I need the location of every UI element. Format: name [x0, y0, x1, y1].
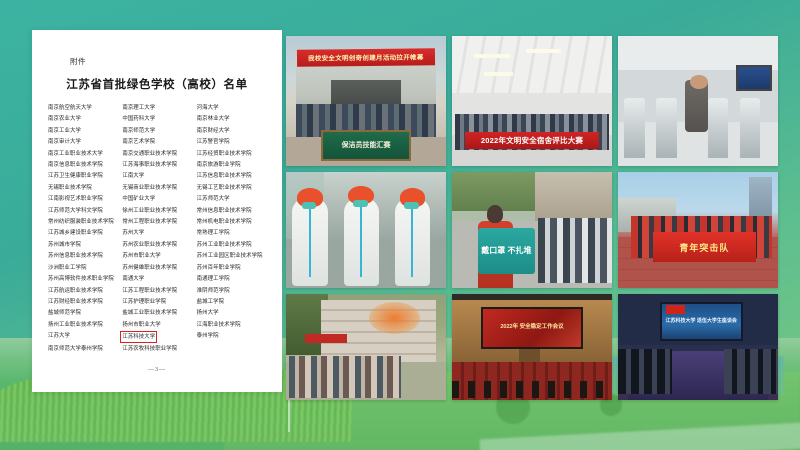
list-item: 江海职业技术学院 [197, 320, 266, 331]
list-item: 苏州高博软件技术职业学院 [48, 274, 117, 285]
ceiling-light [474, 54, 509, 58]
photo-fire-evacuation-drill[interactable] [286, 294, 446, 400]
list-item: 苏州市职业大学 [122, 251, 191, 262]
list-item: 无锡职业技术学院 [48, 183, 117, 194]
ppe-suit [344, 198, 379, 286]
list-item: 中国矿业大学 [122, 194, 191, 205]
slide-canvas: 附件 江苏省首批绿色学校（高校）名单 南京航空航天大学 南京理工大学 河海大学 … [0, 0, 800, 450]
photo-mask-campaign[interactable]: 戴口罩 不扎堆 [452, 172, 612, 288]
list-item: 盐城工业职业技术学院 [122, 308, 191, 319]
red-banner [305, 334, 347, 342]
university-list: 南京航空航天大学 南京理工大学 河海大学 南京农业大学 中国药科大学 南京林业大… [48, 103, 266, 355]
document-page: 附件 江苏省首批绿色学校（高校）名单 南京航空航天大学 南京理工大学 河海大学 … [32, 30, 282, 392]
list-item: 扬州市职业大学 [122, 320, 191, 331]
list-item: 苏州工业职业技术学院 [197, 240, 266, 251]
photo-youth-commando-team[interactable]: 青年突击队 [618, 172, 778, 288]
worker-head [690, 75, 708, 89]
list-item: 南京工业大学 [48, 126, 117, 137]
event-banner: 青年突击队 [653, 232, 755, 262]
list-item: 苏州城市学院 [48, 240, 117, 251]
volunteer-head [487, 205, 503, 223]
photo-veteran-students-forum[interactable]: 江苏科技大学 退伍大学生座谈会 [618, 294, 778, 400]
student-queue [538, 218, 612, 283]
face-mask [302, 202, 316, 209]
national-flag [666, 305, 685, 315]
list-item: 常州机电职业技术学院 [197, 217, 266, 228]
photo-ppe-volunteers[interactable] [286, 172, 446, 288]
list-item: 南京师范大学泰州学院 [48, 344, 117, 355]
document-title: 江苏省首批绿色学校（高校）名单 [48, 76, 266, 92]
event-sign: 保洁员技能汇赛 [321, 130, 411, 161]
list-item: 南京农业大学 [48, 114, 117, 125]
list-item: 南京审计大学 [48, 137, 117, 148]
list-item: 江苏卫生健康职业学院 [48, 171, 117, 182]
face-mask [404, 202, 418, 209]
list-item: 南京师范大学 [122, 126, 191, 137]
ceiling [452, 36, 612, 93]
list-item: 江苏经贸职业技术学院 [197, 149, 266, 160]
list-item: 苏州工业园区职业技术学院 [197, 251, 266, 262]
list-item: 沙洲职业工学院 [48, 263, 117, 274]
list-item: 江南影视艺术职业学院 [48, 194, 117, 205]
list-item: 河海大学 [197, 103, 266, 114]
list-item: 中国药科大学 [122, 114, 191, 125]
list-item: 苏州健雄职业技术学院 [122, 263, 191, 274]
page-number: —3— [48, 367, 266, 373]
face-mask [353, 200, 367, 207]
list-item: 江苏信息职业技术学院 [197, 171, 266, 182]
list-item: 常州工程职业技术学院 [122, 217, 191, 228]
attachment-label: 附件 [70, 56, 266, 67]
photo-safety-work-conference[interactable]: 2022年 安全稳定工作会议 [452, 294, 612, 400]
list-item: 南京航空航天大学 [48, 103, 117, 114]
list-item: 南京林业大学 [197, 114, 266, 125]
ceiling-light [526, 49, 561, 53]
list-item: 徐州工业职业技术学院 [122, 206, 191, 217]
turnstile-gate [740, 98, 761, 158]
evacuating-students [289, 356, 401, 398]
list-item: 泰州学院 [197, 331, 266, 343]
campaign-sign: 戴口罩 不扎堆 [478, 228, 536, 274]
list-item: 常州信息职业技术学院 [197, 206, 266, 217]
floor [452, 150, 612, 166]
list-item: 江苏农牧科技职业学院 [122, 344, 191, 355]
list-item: 苏州信息职业技术学院 [48, 251, 117, 262]
list-item: 南京交通职业技术学院 [122, 149, 191, 160]
list-item: 扬州大学 [197, 308, 266, 319]
list-item: 扬州工业职业技术学院 [48, 320, 117, 331]
list-item [197, 344, 266, 355]
event-banner: 我校安全文明创奇创建月活动拉开帷幕 [297, 48, 435, 66]
list-item: 江苏城乡建设职业学院 [48, 228, 117, 239]
list-item: 南通理工学院 [197, 274, 266, 285]
list-item: 南京工业职业技术大学 [48, 149, 117, 160]
list-item: 江苏师范大学 [197, 194, 266, 205]
event-banner: 2022年文明安全宿舍评比大赛 [465, 132, 599, 149]
list-item: 南京财经大学 [197, 126, 266, 137]
list-item: 江苏航运职业技术学院 [48, 286, 117, 297]
list-item: 常州纺织服装职业技术学院 [48, 217, 117, 228]
list-item: 盐城工学院 [197, 297, 266, 308]
attendees-left [618, 349, 672, 394]
list-item: 江苏海事职业技术学院 [122, 160, 191, 171]
wall-monitor [736, 65, 771, 91]
list-item: 江苏工程职业技术学院 [122, 286, 191, 297]
list-item: 江南大学 [122, 171, 191, 182]
list-item: 南京艺术学院 [122, 137, 191, 148]
list-item: 盐城师范学院 [48, 308, 117, 319]
list-item: 南通大学 [122, 274, 191, 285]
ceiling-light [484, 72, 513, 76]
photo-grid: 我校安全文明创奇创建月活动拉开帷幕 保洁员技能汇赛 2022年文明安全宿舍评比大… [286, 36, 772, 394]
list-item: 无锡商业职业技术学院 [122, 183, 191, 194]
list-item: 江苏财经职业技术学院 [48, 297, 117, 308]
list-item: 江苏护理职业学院 [122, 297, 191, 308]
list-item: 苏州大学 [122, 228, 191, 239]
list-item: 江苏大学 [48, 331, 117, 343]
list-item: 苏州农业职业技术学院 [122, 240, 191, 251]
turnstile-gate [708, 98, 729, 158]
list-item: 南京旅游职业学院 [197, 160, 266, 171]
audience [452, 381, 612, 398]
ppe-suit [292, 198, 327, 286]
building [535, 172, 612, 225]
ppe-suit [395, 198, 430, 286]
turnstile-gate [624, 98, 645, 158]
list-item: 南京理工大学 [122, 103, 191, 114]
list-item: 淮阴师范学院 [197, 286, 266, 297]
turnstile-gate [656, 98, 677, 158]
photo-turnstile-maintenance[interactable] [618, 36, 778, 166]
photo-dormitory-safety-contest[interactable]: 2022年文明安全宿舍评比大赛 [452, 36, 612, 166]
list-item: 无锡工艺职业技术学院 [197, 183, 266, 194]
list-item: 南京信息职业技术学院 [48, 160, 117, 171]
list-item: 苏州百年职业学院 [197, 263, 266, 274]
list-item: 江苏警官学院 [197, 137, 266, 148]
list-item: 常熟理工学院 [197, 228, 266, 239]
highlighted-list-item: 江苏科技大学 [120, 331, 157, 343]
list-item: 江苏师范大学科文学院 [48, 206, 117, 217]
photo-cleaning-skills-contest[interactable]: 我校安全文明创奇创建月活动拉开帷幕 保洁员技能汇赛 [286, 36, 446, 166]
stage-screen: 2022年 安全稳定工作会议 [481, 307, 583, 349]
attendees-right [724, 349, 778, 394]
